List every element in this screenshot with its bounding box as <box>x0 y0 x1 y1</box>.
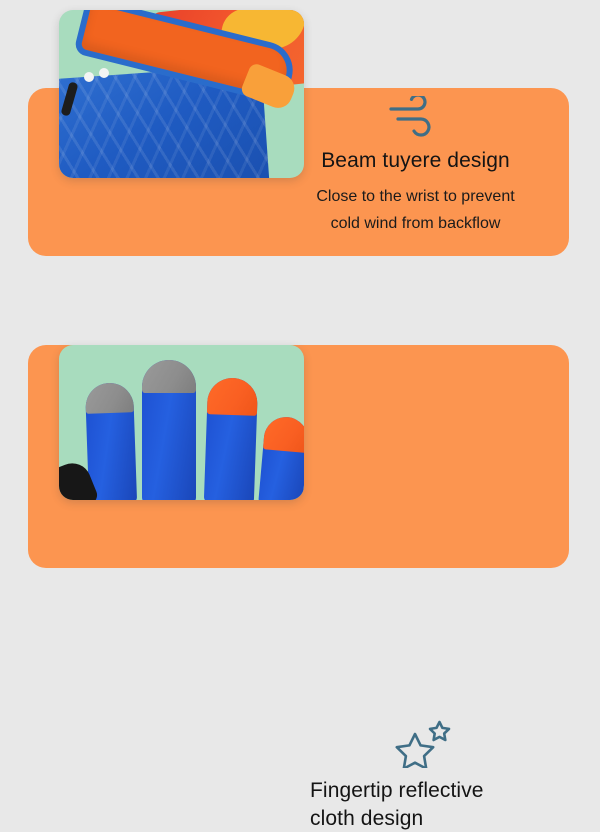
title-line: Fingertip reflective <box>310 777 570 805</box>
feature-text-block: Beam tuyere design Close to the wrist to… <box>268 96 563 238</box>
glove-finger-pinky <box>258 415 304 500</box>
glove-finger-middle <box>142 360 196 500</box>
feature-section-fingertip-reflective: Fingertip reflective cloth design <box>0 300 600 600</box>
glove-finger-ring <box>204 377 258 500</box>
product-feature-infographic: { "page": { "background_color": "#e8e8e8… <box>0 0 600 600</box>
description-line: cold wind from backflow <box>268 210 563 238</box>
feature-section-beam-tuyere: Beam tuyere design Close to the wrist to… <box>0 0 600 300</box>
product-photo-fingertips <box>59 345 304 500</box>
feature-title: Beam tuyere design <box>268 147 563 175</box>
reflective-fingertip <box>142 360 196 393</box>
reflective-fingertip <box>85 382 134 414</box>
title-line: cloth design <box>310 805 570 832</box>
wind-icon <box>388 96 563 143</box>
orange-fingertip <box>207 377 258 416</box>
glove-drawcord-bead <box>84 72 94 82</box>
feature-title: Fingertip reflective cloth design <box>310 777 570 832</box>
orange-fingertip <box>263 415 304 453</box>
description-line: Close to the wrist to prevent <box>268 183 563 211</box>
photo-inner <box>59 345 304 500</box>
feature-text-block: Fingertip reflective cloth design <box>310 720 570 832</box>
stars-icon <box>394 720 570 773</box>
glove-drawcord-bead <box>99 68 109 78</box>
feature-description: Close to the wrist to prevent cold wind … <box>268 183 563 238</box>
